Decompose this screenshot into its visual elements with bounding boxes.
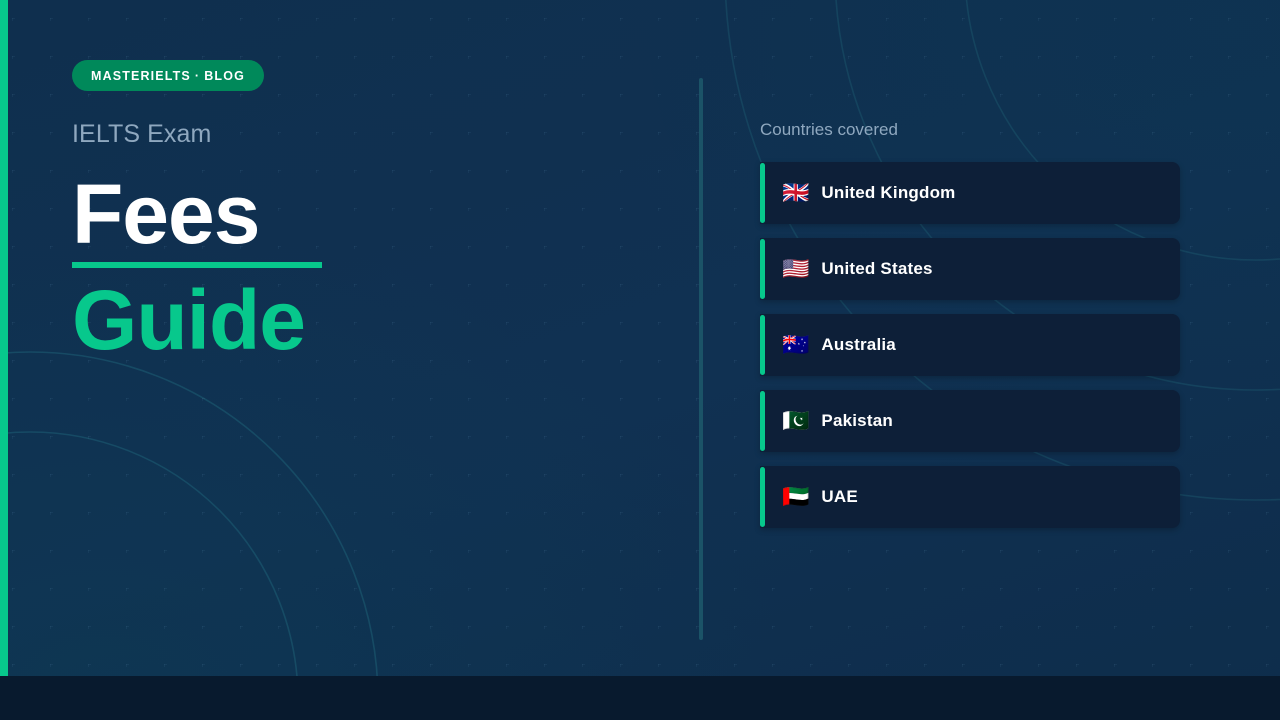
hero-title-line1: Fees xyxy=(72,166,259,262)
hero-title-line2: Guide xyxy=(72,272,305,368)
card-accent-bar xyxy=(760,239,765,299)
card-accent-bar xyxy=(760,163,765,223)
card-accent-bar xyxy=(760,391,765,451)
country-card[interactable]: 🇺🇸 United States xyxy=(760,238,1180,300)
badge-separator-icon: · xyxy=(191,69,204,83)
slide-canvas: MASTERIELTS · BLOG IELTS Exam Fees Guide… xyxy=(0,0,1280,720)
country-name: United States xyxy=(821,259,932,279)
hero-title-underline xyxy=(72,262,322,268)
countries-list: 🇬🇧 United Kingdom 🇺🇸 United States 🇦🇺 Au… xyxy=(760,162,1180,528)
country-name: UAE xyxy=(821,487,858,507)
flag-icon: 🇦🇺 xyxy=(782,334,809,356)
badge-brand-label: MASTERIELTS xyxy=(91,69,191,83)
hero-column: MASTERIELTS · BLOG IELTS Exam Fees Guide xyxy=(72,0,672,720)
country-name: Australia xyxy=(821,335,896,355)
bottom-bar xyxy=(0,676,1280,720)
country-card[interactable]: 🇬🇧 United Kingdom xyxy=(760,162,1180,224)
brand-badge: MASTERIELTS · BLOG xyxy=(72,60,264,91)
column-divider xyxy=(699,78,703,640)
hero-eyebrow: IELTS Exam xyxy=(72,120,211,149)
country-name: United Kingdom xyxy=(821,183,955,203)
country-card[interactable]: 🇦🇪 UAE xyxy=(760,466,1180,528)
countries-panel-label: Countries covered xyxy=(760,120,898,140)
flag-icon: 🇦🇪 xyxy=(782,486,809,508)
country-card[interactable]: 🇦🇺 Australia xyxy=(760,314,1180,376)
flag-icon: 🇺🇸 xyxy=(782,258,809,280)
flag-icon: 🇵🇰 xyxy=(782,410,809,432)
countries-column: Countries covered 🇬🇧 United Kingdom 🇺🇸 U… xyxy=(760,0,1180,720)
card-accent-bar xyxy=(760,467,765,527)
country-name: Pakistan xyxy=(821,411,893,431)
flag-icon: 🇬🇧 xyxy=(782,182,809,204)
left-accent-rail xyxy=(0,0,8,720)
card-accent-bar xyxy=(760,315,765,375)
badge-section-label: BLOG xyxy=(204,69,245,83)
country-card[interactable]: 🇵🇰 Pakistan xyxy=(760,390,1180,452)
